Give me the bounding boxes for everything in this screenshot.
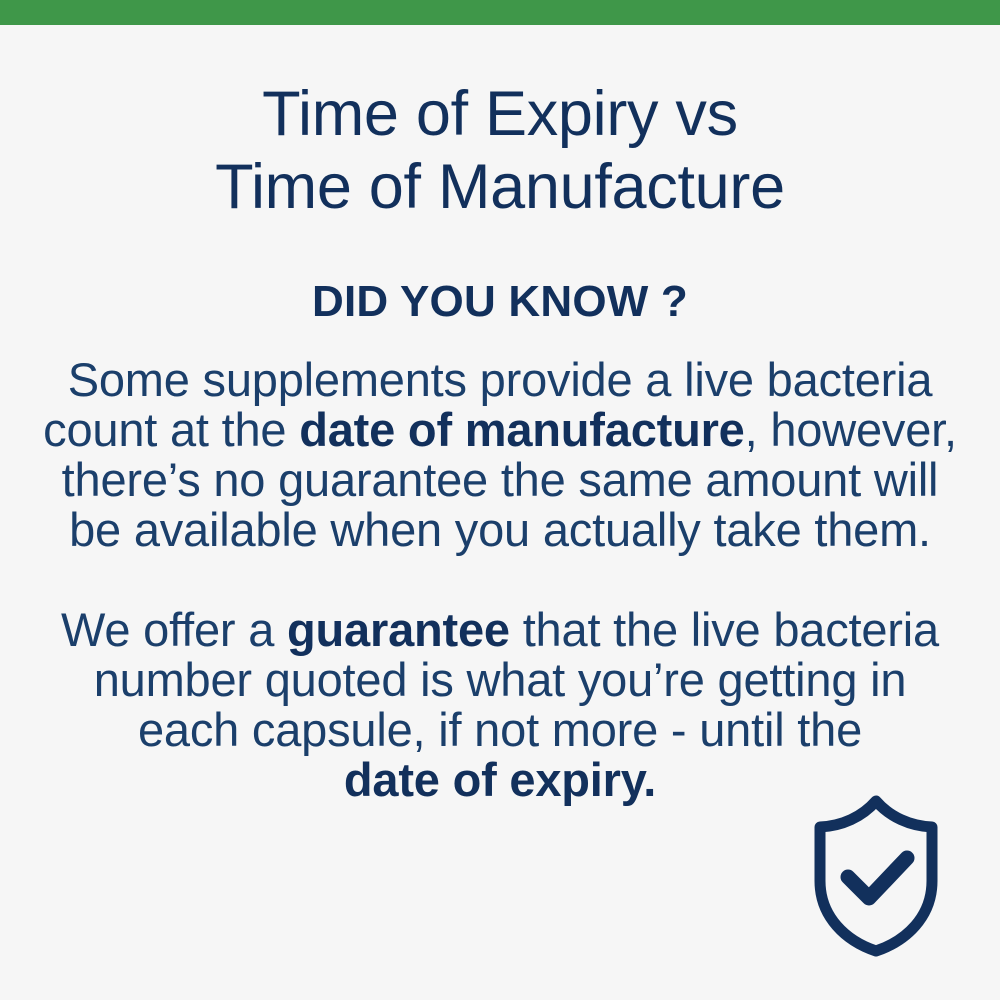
paragraph-two-line-1: We offer a guarantee that the live bacte… bbox=[0, 605, 1000, 655]
paragraph-one-line-4: be available when you actually take them… bbox=[0, 505, 1000, 555]
page-title: Time of Expiry vs Time of Manufacture bbox=[0, 78, 1000, 224]
page-title-line-1: Time of Expiry vs bbox=[0, 78, 1000, 151]
guarantee-emphasis: guarantee bbox=[287, 603, 510, 656]
paragraph-one: Some supplements provide a live bacteria… bbox=[0, 355, 1000, 555]
did-you-know-heading: DID YOU KNOW ? bbox=[0, 277, 1000, 327]
paragraph-two: We offer a guarantee that the live bacte… bbox=[0, 605, 1000, 805]
shield-check-icon bbox=[806, 795, 946, 957]
top-accent-bar bbox=[0, 0, 1000, 25]
paragraph-one-line-2: count at the date of manufacture, howeve… bbox=[0, 405, 1000, 455]
paragraph-two-line-3: each capsule, if not more - until the bbox=[0, 705, 1000, 755]
paragraph-one-line-2-prefix: count at the bbox=[43, 403, 299, 456]
paragraph-two-line-1-suffix: that the live bacteria bbox=[510, 603, 939, 656]
paragraph-one-line-2-suffix: , however, bbox=[745, 403, 957, 456]
date-of-manufacture-emphasis: date of manufacture bbox=[299, 403, 744, 456]
paragraph-one-line-1: Some supplements provide a live bacteria bbox=[0, 355, 1000, 405]
shield-outline bbox=[820, 801, 932, 951]
infographic-card: Time of Expiry vs Time of Manufacture DI… bbox=[0, 0, 1000, 1000]
paragraph-one-line-3: there’s no guarantee the same amount wil… bbox=[0, 455, 1000, 505]
page-title-line-2: Time of Manufacture bbox=[0, 151, 1000, 224]
paragraph-two-line-1-prefix: We offer a bbox=[61, 603, 287, 656]
paragraph-one-line-1-text: Some supplements provide a live bacteria bbox=[68, 353, 933, 406]
check-mark bbox=[848, 858, 907, 898]
paragraph-two-line-2: number quoted is what you’re getting in bbox=[0, 655, 1000, 705]
